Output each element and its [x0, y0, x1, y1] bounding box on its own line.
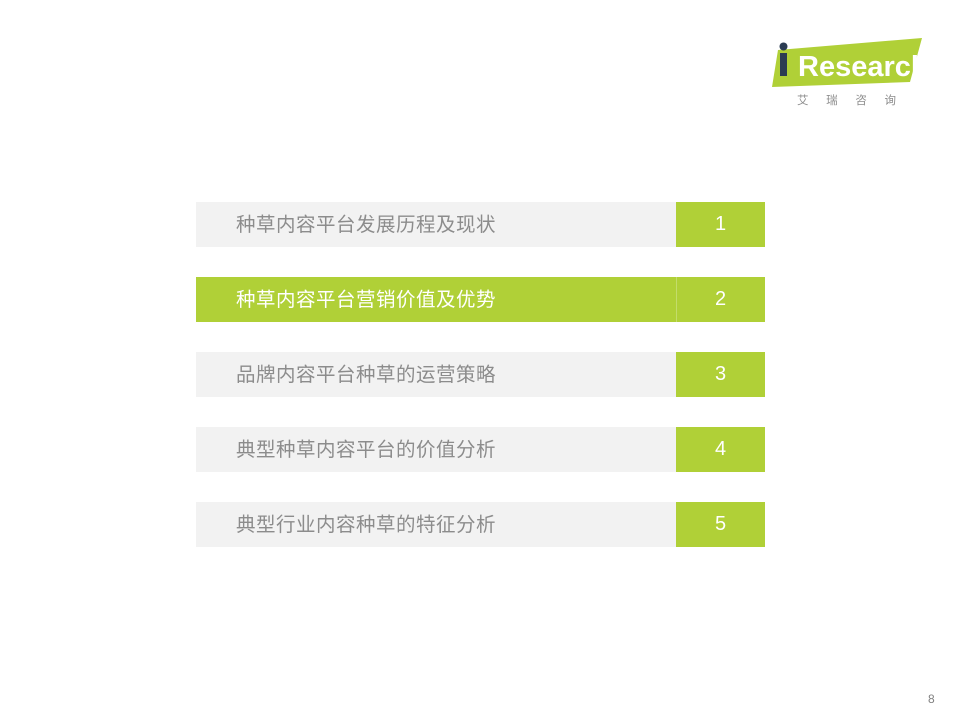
agenda-row-5[interactable]: 典型行业内容种草的特征分析 5: [196, 502, 765, 547]
agenda-row-3-number: 3: [676, 352, 765, 397]
agenda-row-3-label: 品牌内容平台种草的运营策略: [196, 352, 676, 397]
agenda-row-2-number: 2: [676, 277, 765, 322]
agenda-row-1-label: 种草内容平台发展历程及现状: [196, 202, 676, 247]
slide-canvas: Research 艾 瑞 咨 询 种草内容平台发展历程及现状 1 种草内容平台营…: [0, 0, 960, 720]
agenda-row-1-number: 1: [676, 202, 765, 247]
agenda-row-2-label: 种草内容平台营销价值及优势: [196, 277, 676, 322]
agenda-row-4[interactable]: 典型种草内容平台的价值分析 4: [196, 427, 765, 472]
iresearch-logo-mark: Research: [770, 38, 928, 90]
iresearch-logo-chinese: 艾 瑞 咨 询: [780, 92, 920, 108]
agenda-row-5-label: 典型行业内容种草的特征分析: [196, 502, 676, 547]
agenda-row-4-number: 4: [676, 427, 765, 472]
iresearch-logo: Research 艾 瑞 咨 询: [770, 38, 928, 116]
agenda-row-4-label: 典型种草内容平台的价值分析: [196, 427, 676, 472]
agenda-row-5-number: 5: [676, 502, 765, 547]
agenda-row-1[interactable]: 种草内容平台发展历程及现状 1: [196, 202, 765, 247]
svg-text:Research: Research: [798, 51, 928, 83]
page-number: 8: [928, 692, 935, 706]
agenda-row-2[interactable]: 种草内容平台营销价值及优势 2: [196, 277, 765, 322]
agenda-list: 种草内容平台发展历程及现状 1 种草内容平台营销价值及优势 2 品牌内容平台种草…: [196, 202, 765, 547]
agenda-row-3[interactable]: 品牌内容平台种草的运营策略 3: [196, 352, 765, 397]
